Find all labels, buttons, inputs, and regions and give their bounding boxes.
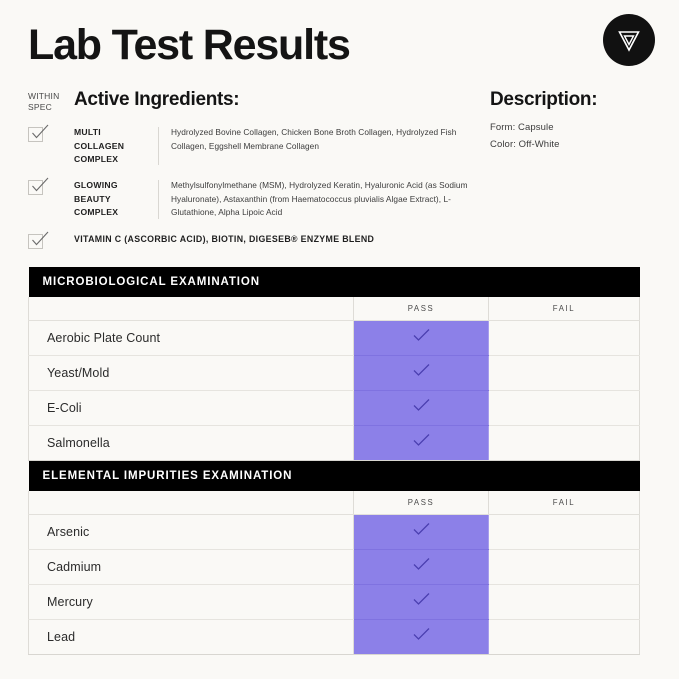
checkbox-icon[interactable] [28,180,43,195]
description-form-line: Form: Capsule [490,120,651,137]
within-spec-label: WITHIN SPEC [28,90,74,112]
table-row: Arsenic [29,514,640,549]
fail-cell[interactable] [489,549,640,584]
column-header-fail: FAIL [489,491,640,515]
table-column-header-row: PASS FAIL [29,491,640,515]
ingredient-complex-name: GLOWING BEAUTY COMPLEX [74,179,152,219]
column-header-pass: PASS [354,491,489,515]
pass-cell[interactable] [354,390,489,425]
triangle-v-logo-icon [603,14,655,66]
ingredient-detail-text: Methylsulfonylmethane (MSM), Hydrolyzed … [171,179,480,219]
test-name: Mercury [29,584,354,619]
checkmark-icon [410,433,432,447]
fail-cell[interactable] [489,514,640,549]
elemental-impurities-examination-table: ELEMENTAL IMPURITIES EXAMINATION PASS FA… [28,461,640,655]
within-spec-line-1: WITHIN [28,91,74,102]
active-ingredients-section: WITHIN SPEC Active Ingredients: MULTI CO… [28,90,480,249]
pass-cell[interactable] [354,619,489,654]
fail-cell[interactable] [489,390,640,425]
ingredient-complex-name: VITAMIN C (ASCORBIC ACID), BIOTIN, DIGES… [74,233,480,247]
pass-cell[interactable] [354,425,489,460]
table-title-band: MICROBIOLOGICAL EXAMINATION [29,267,640,297]
test-name: Arsenic [29,514,354,549]
checkbox-icon[interactable] [28,234,43,249]
ingredient-row: VITAMIN C (ASCORBIC ACID), BIOTIN, DIGES… [28,233,480,249]
checkmark-icon [410,398,432,412]
test-name: E-Coli [29,390,354,425]
test-name: Yeast/Mold [29,355,354,390]
within-spec-checkbox-cell [28,126,74,142]
ingredient-complex-name: MULTI COLLAGEN COMPLEX [74,126,152,166]
checkmark-icon [410,522,432,536]
pass-cell[interactable] [354,320,489,355]
column-header-test [29,297,354,321]
table-row: E-Coli [29,390,640,425]
table-row: Cadmium [29,549,640,584]
ingredient-divider [158,127,159,165]
examination-tables: MICROBIOLOGICAL EXAMINATION PASS FAIL Ae… [28,267,639,655]
table-column-header-row: PASS FAIL [29,297,640,321]
ingredient-row: MULTI COLLAGEN COMPLEX Hydrolyzed Bovine… [28,126,480,166]
fail-cell[interactable] [489,355,640,390]
description-section: Description: Form: Capsule Color: Off-Wh… [480,90,651,249]
checkbox-icon[interactable] [28,127,43,142]
checkmark-icon [410,627,432,641]
ingredient-row: GLOWING BEAUTY COMPLEX Methylsulfonylmet… [28,179,480,219]
table-row: Salmonella [29,425,640,460]
fail-cell[interactable] [489,619,640,654]
pass-cell[interactable] [354,355,489,390]
table-title-band: ELEMENTAL IMPURITIES EXAMINATION [29,461,640,491]
test-name: Lead [29,619,354,654]
page-header: Lab Test Results [0,0,679,72]
ingredient-detail-text: Hydrolyzed Bovine Collagen, Chicken Bone… [171,126,480,153]
pass-cell[interactable] [354,514,489,549]
table-title: MICROBIOLOGICAL EXAMINATION [29,267,640,297]
within-spec-checkbox-cell [28,233,74,249]
ingredients-list: MULTI COLLAGEN COMPLEX Hydrolyzed Bovine… [28,126,480,248]
checkmark-icon [410,363,432,377]
fail-cell[interactable] [489,584,640,619]
within-spec-line-2: SPEC [28,102,74,113]
checkmark-icon [410,328,432,342]
checkmark-icon [410,592,432,606]
test-name: Aerobic Plate Count [29,320,354,355]
description-heading: Description: [490,90,651,109]
pass-cell[interactable] [354,549,489,584]
ingredient-divider [158,180,159,218]
column-header-pass: PASS [354,297,489,321]
description-color-line: Color: Off-White [490,137,651,154]
column-header-test [29,491,354,515]
table-row: Mercury [29,584,640,619]
microbiological-examination-table: MICROBIOLOGICAL EXAMINATION PASS FAIL Ae… [28,267,640,461]
info-band: WITHIN SPEC Active Ingredients: MULTI CO… [0,72,679,249]
test-name: Cadmium [29,549,354,584]
table-row: Aerobic Plate Count [29,320,640,355]
table-row: Yeast/Mold [29,355,640,390]
within-spec-checkbox-cell [28,179,74,195]
active-ingredients-heading: Active Ingredients: [74,90,239,109]
page-title: Lab Test Results [28,24,651,67]
fail-cell[interactable] [489,320,640,355]
ingredients-header-row: WITHIN SPEC Active Ingredients: [28,90,480,112]
pass-cell[interactable] [354,584,489,619]
table-title: ELEMENTAL IMPURITIES EXAMINATION [29,461,640,491]
checkmark-icon [410,557,432,571]
column-header-fail: FAIL [489,297,640,321]
table-row: Lead [29,619,640,654]
fail-cell[interactable] [489,425,640,460]
test-name: Salmonella [29,425,354,460]
